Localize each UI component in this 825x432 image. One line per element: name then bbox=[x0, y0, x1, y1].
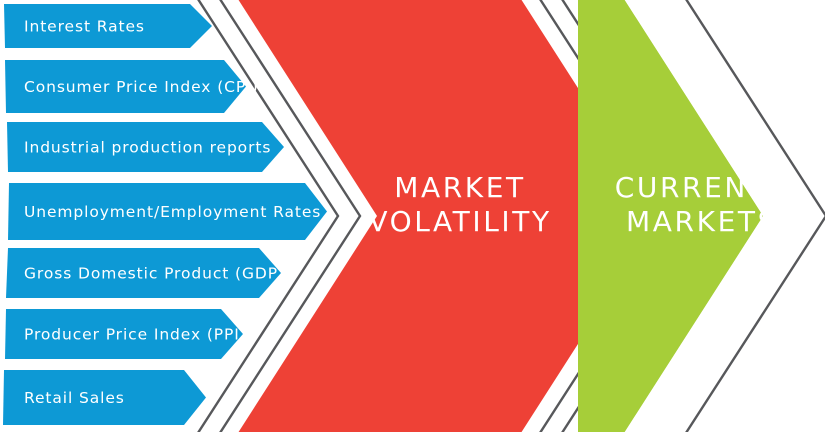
stage-currency-markets-line2: MARKETS bbox=[626, 205, 778, 238]
input-bar-group: Interest RatesConsumer Price Index (CPI)… bbox=[3, 4, 327, 425]
input-bar-0[interactable]: Interest Rates bbox=[4, 4, 212, 48]
input-bar-label: Producer Price Index (PPI) bbox=[24, 326, 247, 344]
input-bar-3[interactable]: Unemployment/Employment Rates bbox=[8, 183, 327, 240]
input-bar-6[interactable]: Retail Sales bbox=[3, 370, 206, 425]
input-bar-label: Industrial production reports bbox=[24, 139, 271, 157]
stage-currency-markets[interactable]: CURRENCY MARKETS bbox=[578, 0, 789, 432]
input-bar-1[interactable]: Consumer Price Index (CPI) bbox=[5, 60, 259, 113]
stage-currency-markets-line1: CURRENCY bbox=[615, 171, 790, 204]
stage-market-volatility-line1: MARKET bbox=[394, 171, 526, 204]
diagram-canvas: MARKET VOLATILITY CURRENCY MARKETS Inter… bbox=[0, 0, 825, 432]
input-bar-label: Consumer Price Index (CPI) bbox=[24, 78, 259, 96]
input-bar-4[interactable]: Gross Domestic Product (GDP) bbox=[6, 248, 285, 298]
input-bar-5[interactable]: Producer Price Index (PPI) bbox=[5, 309, 247, 359]
input-bar-label: Gross Domestic Product (GDP) bbox=[24, 265, 285, 283]
input-bar-label: Retail Sales bbox=[24, 389, 125, 407]
chevron-flow-diagram: MARKET VOLATILITY CURRENCY MARKETS Inter… bbox=[0, 0, 825, 432]
input-bar-2[interactable]: Industrial production reports bbox=[7, 122, 284, 172]
stage-market-volatility-line2: VOLATILITY bbox=[368, 205, 551, 238]
input-bar-label: Unemployment/Employment Rates bbox=[24, 203, 321, 221]
input-bar-label: Interest Rates bbox=[24, 18, 145, 36]
